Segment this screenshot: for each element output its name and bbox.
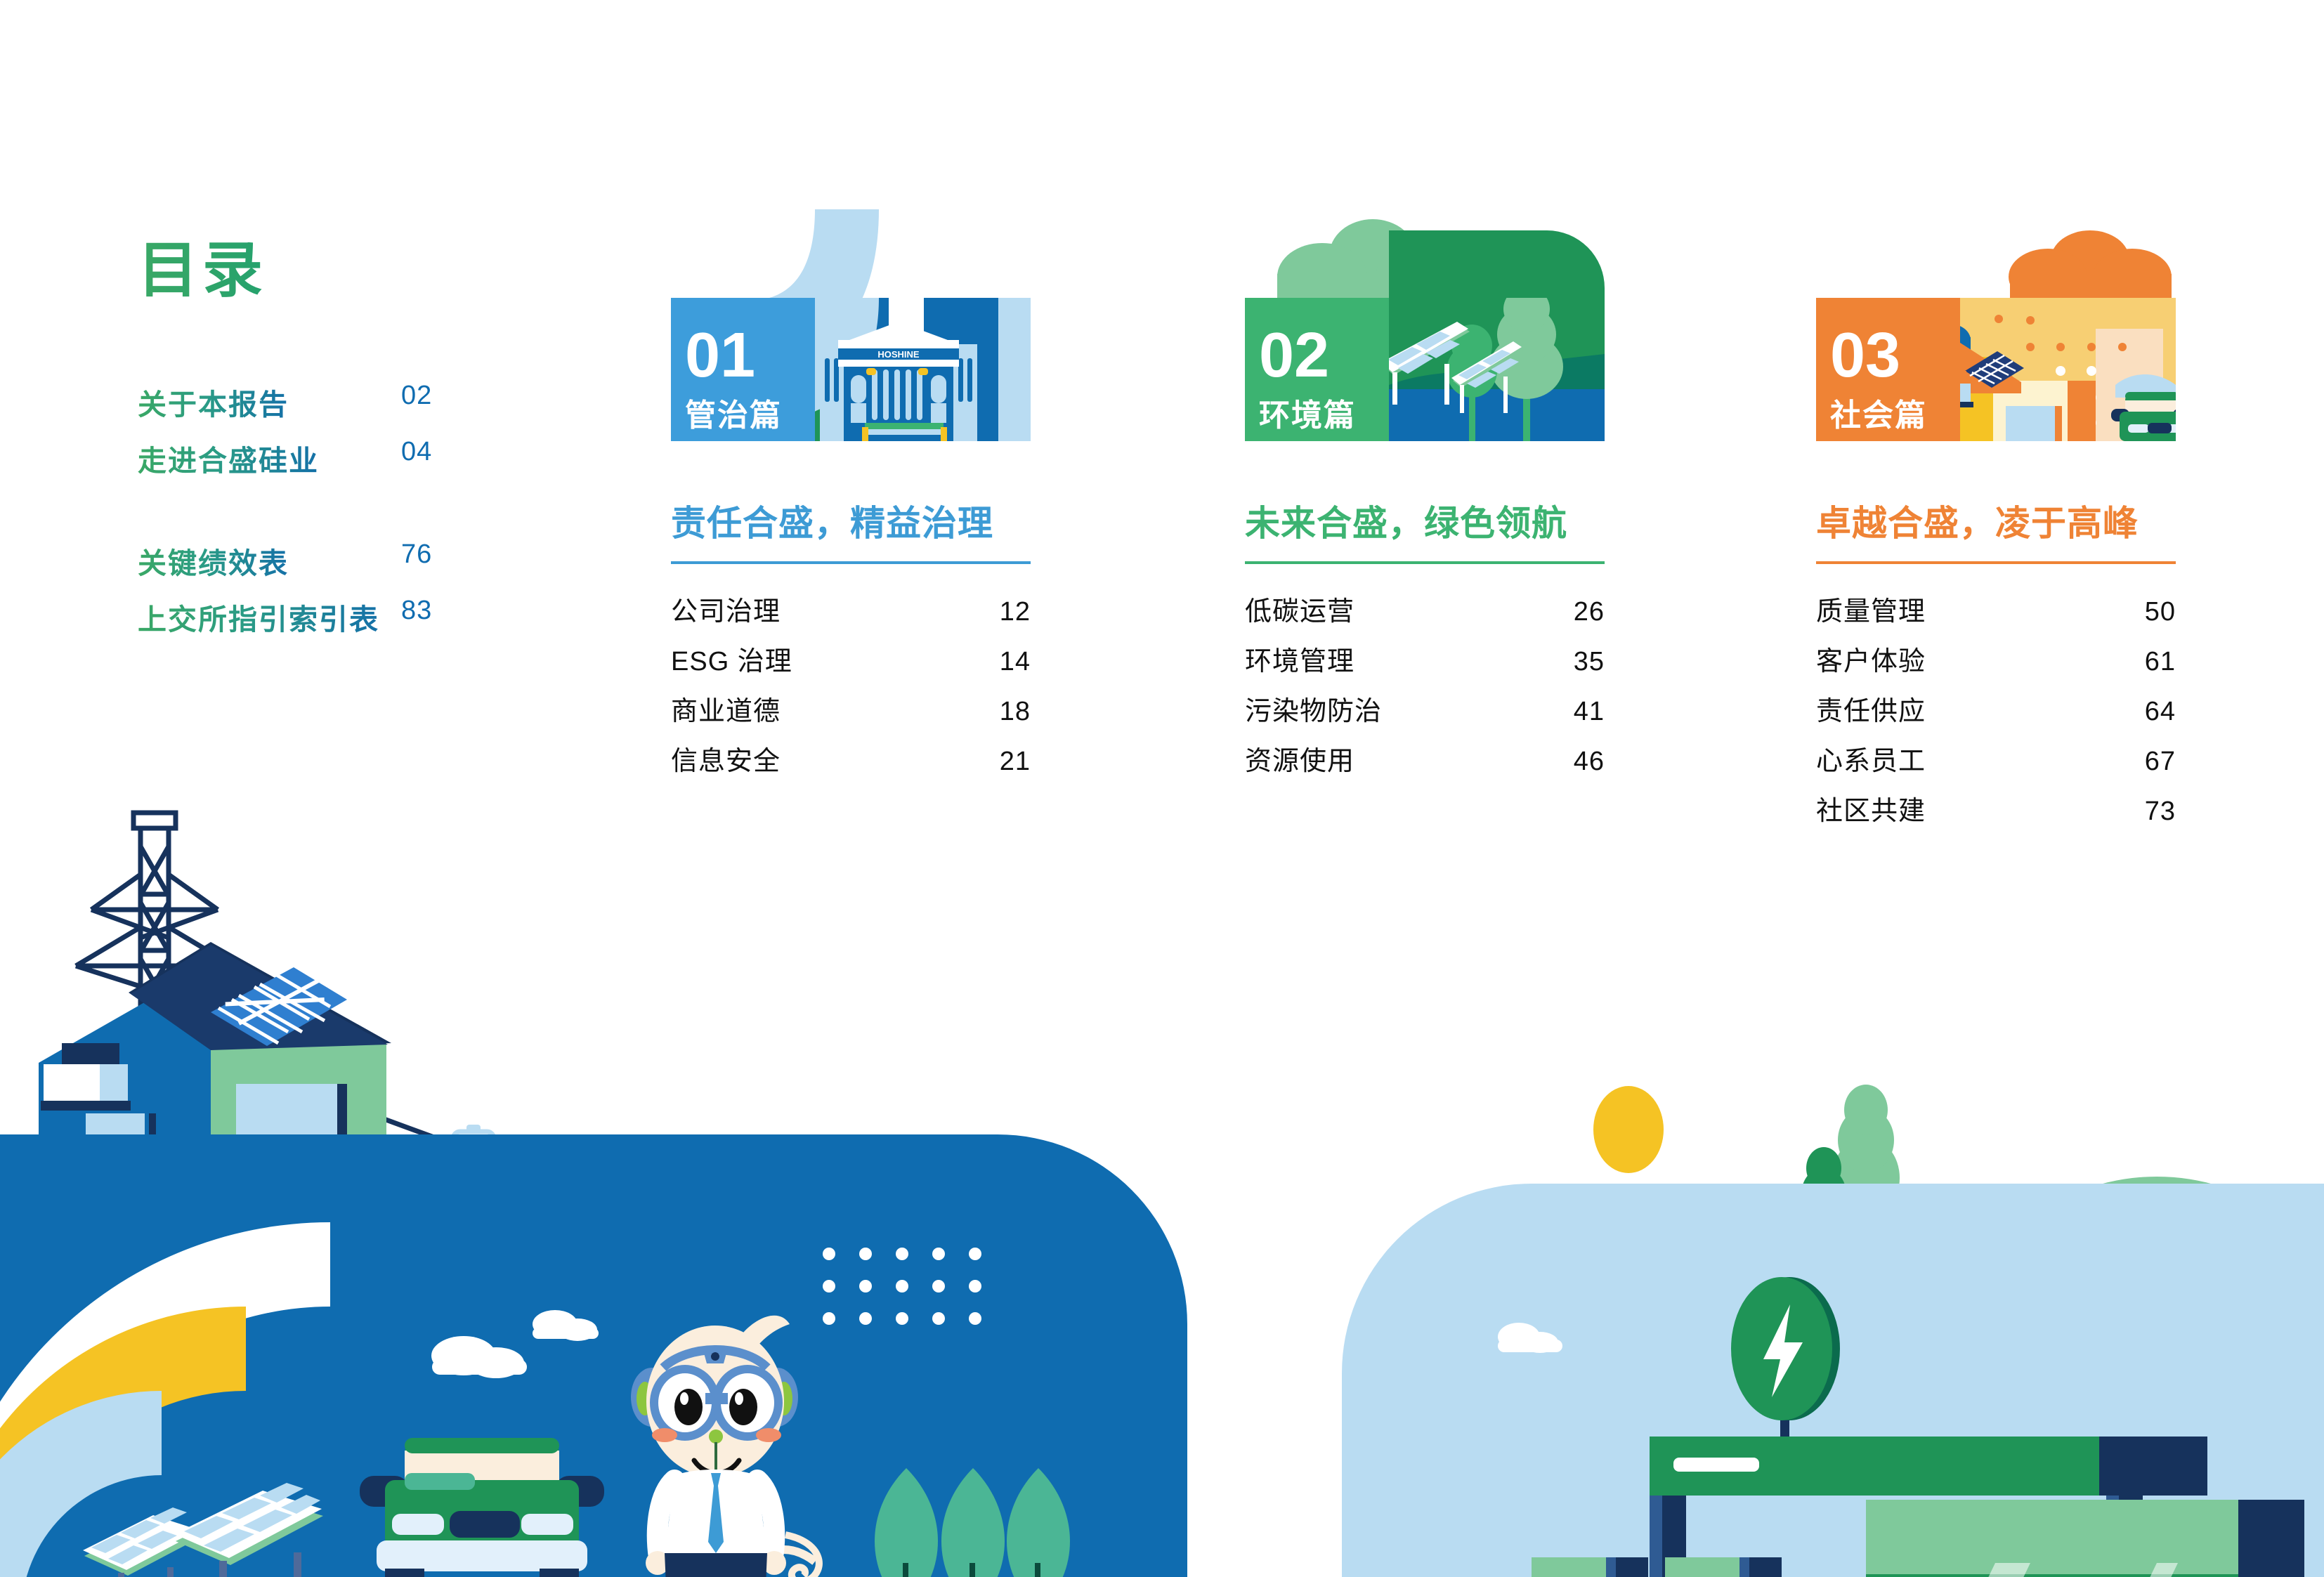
toc-entry-label[interactable]: 关于本报告 [138, 381, 289, 423]
section-number: 02 [1259, 320, 1329, 391]
toc-entry-page: 04 [401, 437, 432, 467]
list-item[interactable]: 商业道德 18 [671, 689, 1031, 739]
item-page: 26 [1574, 597, 1605, 627]
dot-grid-white [823, 1248, 981, 1325]
station-canopy [1650, 1437, 2207, 1577]
item-page: 41 [1574, 697, 1605, 727]
item-page: 12 [1000, 597, 1031, 627]
toc-entry-label[interactable]: 关键绩效表 [138, 539, 289, 582]
section-01-artwork: HOSHINE [671, 294, 1031, 437]
toc-entry-page: 83 [401, 596, 432, 626]
item-page: 14 [1000, 647, 1031, 677]
item-label: 商业道德 [671, 689, 781, 728]
item-page: 21 [1000, 747, 1031, 777]
mascot-character [631, 1316, 819, 1577]
cloud-icon [1498, 1323, 1562, 1353]
glass-storefront [1866, 1500, 2304, 1577]
list-item[interactable]: 责任供应 64 [1816, 689, 2176, 739]
item-page: 35 [1574, 647, 1605, 677]
section-heading: 卓越合盛，凌于高峰 [1816, 495, 2209, 546]
toc-entry-label[interactable]: 上交所指引索引表 [138, 596, 379, 638]
item-page: 73 [2145, 797, 2176, 827]
toc-entry-page: 76 [401, 539, 432, 570]
section-divider [1816, 561, 2176, 564]
toc-entry[interactable]: 上交所指引索引表 83 [138, 596, 587, 652]
list-item[interactable]: 社区共建 73 [1816, 789, 2176, 839]
list-item[interactable]: 环境管理 35 [1245, 639, 1605, 689]
left-illustration-scene [0, 813, 1187, 1577]
table-of-contents: 目录 关于本报告 02 走进合盛硅业 04 关键绩效表 76 上交所指引索引表 … [138, 239, 587, 652]
battery-icon [453, 1125, 494, 1247]
bottom-illustrations [0, 734, 2324, 1577]
toc-list: 关于本报告 02 走进合盛硅业 04 关键绩效表 76 上交所指引索引表 83 [138, 381, 587, 652]
section-heading: 责任合盛，精益治理 [671, 495, 1064, 546]
item-page: 46 [1574, 747, 1605, 777]
list-item[interactable]: 心系员工 67 [1816, 739, 2176, 789]
right-illustration-scene [1342, 1085, 2324, 1577]
section-number: 03 [1830, 320, 1900, 391]
blue-ground-blob [0, 1134, 1187, 1577]
item-page: 67 [2145, 747, 2176, 777]
station-ground-blob [1342, 1184, 2324, 1577]
toc-entry[interactable]: 关键绩效表 76 [138, 539, 587, 596]
power-lines [169, 1043, 1096, 1311]
section-divider [671, 561, 1031, 564]
building-name-label: HOSHINE [877, 349, 920, 360]
item-label: 心系员工 [1816, 739, 1926, 778]
item-label: 信息安全 [671, 739, 781, 778]
section-divider [1245, 561, 1605, 564]
solar-panel-icon [83, 1483, 323, 1577]
cloud-icon [2009, 230, 2172, 305]
section-heading: 未来合盛，绿色领航 [1245, 495, 1638, 546]
section-item-list: 公司治理 12 ESG 治理 14 商业道德 18 信息安全 21 [671, 589, 1031, 789]
item-label: 客户体验 [1816, 639, 1926, 678]
list-item[interactable]: 质量管理 50 [1816, 589, 2176, 639]
item-label: 低碳运营 [1245, 589, 1354, 628]
list-item[interactable]: ESG 治理 14 [671, 639, 1031, 689]
item-label: 环境管理 [1245, 639, 1354, 678]
toc-entry[interactable]: 关于本报告 02 [138, 381, 587, 437]
list-item[interactable]: 公司治理 12 [671, 589, 1031, 639]
toc-entry-page: 02 [401, 381, 432, 411]
toc-page: 目录 关于本报告 02 走进合盛硅业 04 关键绩效表 76 上交所指引索引表 … [0, 0, 2324, 1577]
leaf-trees [875, 1468, 1070, 1577]
toc-entry[interactable]: 走进合盛硅业 04 [138, 437, 587, 493]
item-label: 公司治理 [671, 589, 781, 628]
list-item[interactable]: 低碳运营 26 [1245, 589, 1605, 639]
item-label: 资源使用 [1245, 739, 1354, 778]
section-item-list: 低碳运营 26 环境管理 35 污染物防治 41 资源使用 46 [1245, 589, 1605, 789]
electric-car-icon [360, 1438, 604, 1577]
item-page: 18 [1000, 697, 1031, 727]
tree-icon [1797, 1085, 1900, 1324]
section-03-artwork: 03 社会篇 [1816, 294, 2176, 437]
green-hills [0, 1254, 1054, 1577]
item-label: ESG 治理 [671, 639, 792, 678]
toc-entry-label[interactable]: 走进合盛硅业 [138, 437, 319, 479]
section-02-artwork: 02 环境篇 [1245, 294, 1605, 437]
section-item-list: 质量管理 50 客户体验 61 责任供应 64 心系员工 67 社区共建 73 [1816, 589, 2176, 839]
rainbow-arcs [0, 1222, 330, 1577]
item-page: 61 [2145, 647, 2176, 677]
list-item[interactable]: 资源使用 46 [1245, 739, 1605, 789]
transmission-tower-icon [76, 813, 233, 1156]
item-page: 64 [2145, 697, 2176, 727]
ev-charge-sign-icon [1731, 1277, 1840, 1468]
section-badge-label: 环境篇 [1259, 398, 1356, 433]
section-badge-label: 管治篇 [685, 398, 782, 433]
roof-solar-panel-icon [211, 967, 347, 1046]
section-card-02[interactable]: 02 环境篇 未来合盛，绿色领航 低碳运营 26 环境管理 35 污染物防治 4… [1245, 294, 1638, 789]
item-label: 质量管理 [1816, 589, 1926, 628]
cloud-icon [431, 1310, 599, 1378]
section-number: 01 [685, 320, 755, 391]
dot-grid [823, 1183, 981, 1228]
item-page: 50 [2145, 597, 2176, 627]
section-card-01[interactable]: HOSHINE [671, 294, 1064, 789]
section-badge-label: 社会篇 [1830, 398, 1927, 433]
list-item[interactable]: 客户体验 61 [1816, 639, 2176, 689]
sun-icon [1593, 1086, 1664, 1173]
page-title: 目录 [138, 239, 587, 302]
solar-roof-house-icon [37, 942, 391, 1191]
item-label: 责任供应 [1816, 689, 1926, 728]
item-label: 污染物防治 [1245, 689, 1382, 728]
charging-pile-icon [1532, 1557, 1782, 1577]
item-label: 社区共建 [1816, 789, 1926, 827]
section-card-03[interactable]: 03 社会篇 卓越合盛，凌于高峰 质量管理 50 客户体验 61 责任供应 64… [1816, 294, 2209, 839]
list-item[interactable]: 信息安全 21 [671, 739, 1031, 789]
waterfall-hills [1869, 1177, 2324, 1444]
list-item[interactable]: 污染物防治 41 [1245, 689, 1605, 739]
